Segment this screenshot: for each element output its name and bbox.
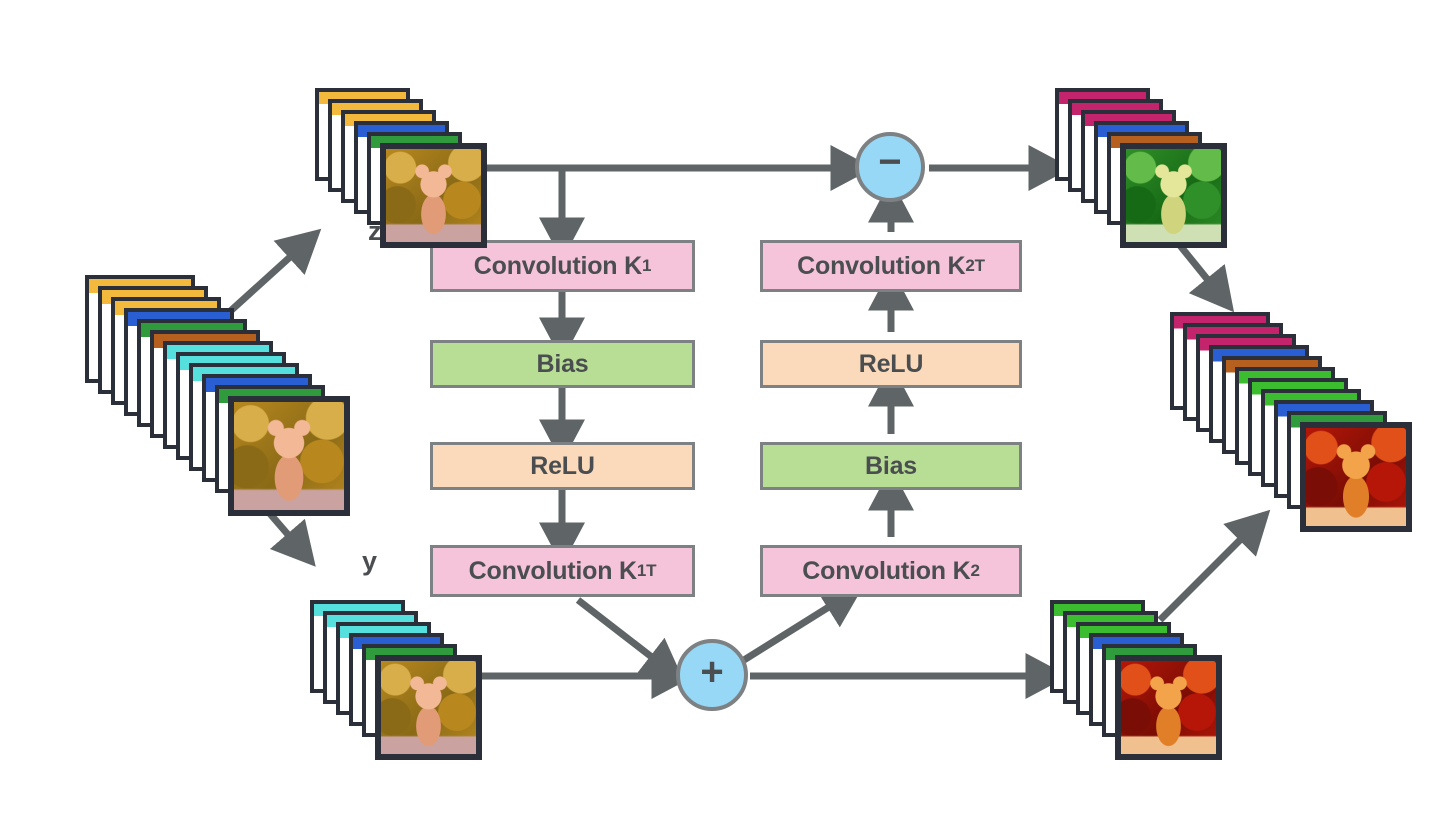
image-stack-input xyxy=(85,275,338,504)
operator-symbol: + xyxy=(700,652,723,692)
edge-plus-to-convk2 xyxy=(744,600,840,660)
stack-front-image xyxy=(228,396,350,516)
stack-front-image xyxy=(1300,422,1412,532)
operation-label: Convolution K xyxy=(802,557,970,586)
operation-label: Bias xyxy=(536,350,588,379)
image-stack-output-final xyxy=(1170,312,1400,520)
image-stack-y xyxy=(310,600,470,748)
stack-front-image xyxy=(1115,655,1222,760)
image-stack-output-bottom xyxy=(1050,600,1210,748)
operation-label: ReLU xyxy=(530,452,594,481)
kitten-photo xyxy=(1121,661,1216,754)
operation-label: Convolution K xyxy=(469,557,637,586)
stack-front-image xyxy=(1120,143,1227,248)
diagram-canvas: Convolution K1BiasReLUConvolution K1TCon… xyxy=(0,0,1454,818)
operation-superscript: T xyxy=(975,256,985,276)
image-stack-residual xyxy=(1055,88,1215,236)
operation-box-bias-right: Bias xyxy=(760,442,1022,490)
operation-label: Bias xyxy=(865,452,917,481)
operation-subscript: 2 xyxy=(965,256,974,276)
operation-label: Convolution K xyxy=(797,252,965,281)
operation-superscript: T xyxy=(646,561,656,581)
kitten-photo xyxy=(386,149,481,242)
kitten-photo xyxy=(234,402,344,510)
operation-box-conv-k1t: Convolution K1T xyxy=(430,545,695,597)
kitten-photo xyxy=(1306,428,1406,526)
stack-front-image xyxy=(380,143,487,248)
stack-front-image xyxy=(375,655,482,760)
operation-box-conv-k2: Convolution K2 xyxy=(760,545,1022,597)
y-label: y xyxy=(362,546,377,577)
operation-box-conv-k2t: Convolution K2T xyxy=(760,240,1022,292)
operation-subscript: 1 xyxy=(637,561,646,581)
operator-plus: + xyxy=(676,639,748,711)
operation-subscript: 1 xyxy=(642,256,651,276)
operation-box-relu-left: ReLU xyxy=(430,442,695,490)
kitten-photo xyxy=(1126,149,1221,242)
operation-label: ReLU xyxy=(859,350,923,379)
operation-label: Convolution K xyxy=(474,252,642,281)
edge-convk1t-to-plus xyxy=(578,600,662,665)
operator-symbol: − xyxy=(878,142,901,182)
operator-minus: − xyxy=(855,132,925,202)
operation-subscript: 2 xyxy=(970,561,979,581)
operation-box-relu-right: ReLU xyxy=(760,340,1022,388)
operation-box-bias-left: Bias xyxy=(430,340,695,388)
image-stack-z xyxy=(315,88,475,236)
kitten-photo xyxy=(381,661,476,754)
